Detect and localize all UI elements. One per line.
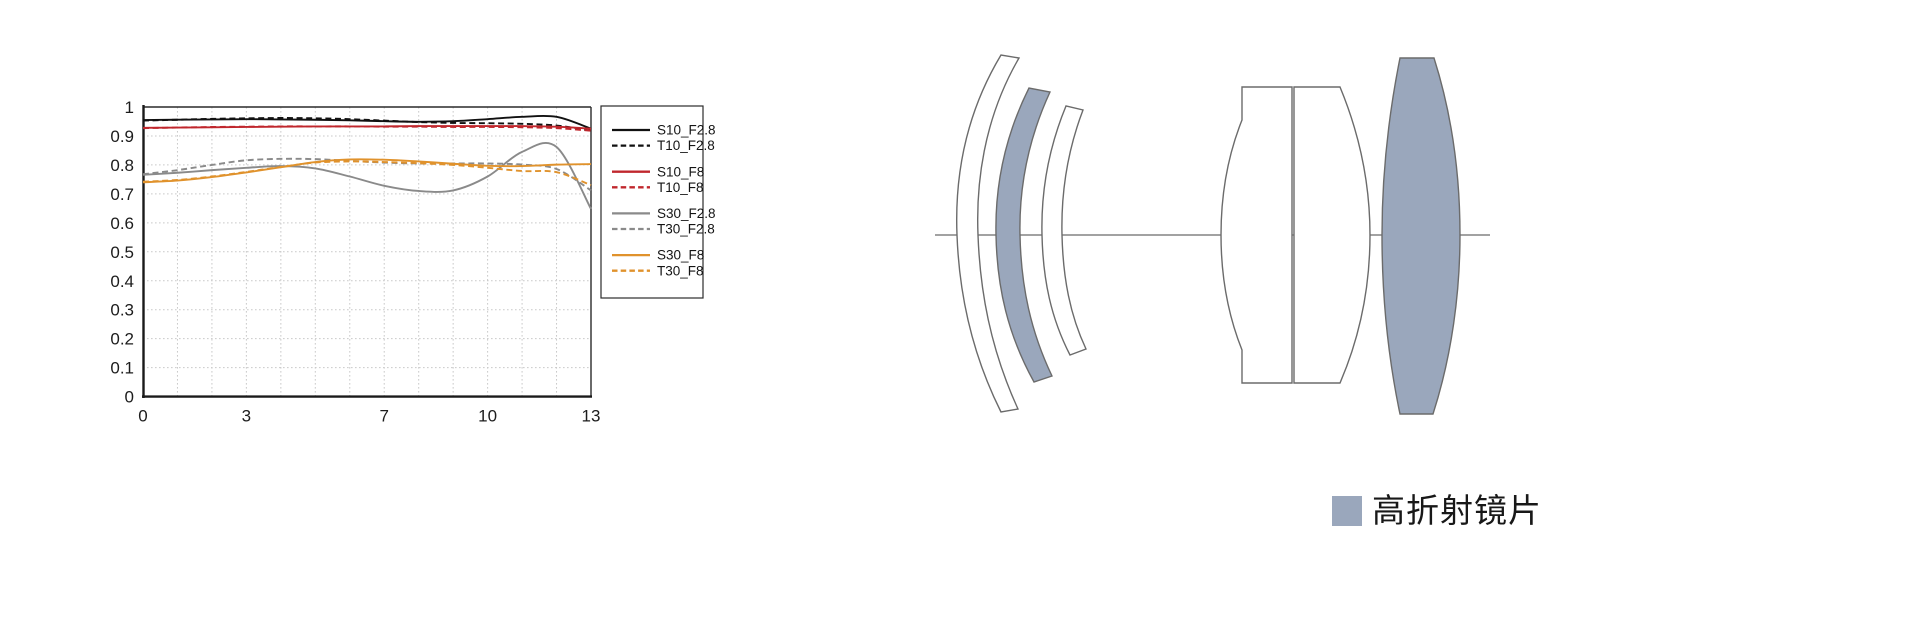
y-tick-label: 0.6 (110, 214, 134, 233)
lens-element-6-high-index (1382, 58, 1460, 414)
legend-label-s30-f8: S30_F8 (657, 248, 704, 263)
high-index-swatch-icon (1332, 496, 1362, 526)
legend-label-t30-f2-8: T30_F2.8 (657, 222, 715, 237)
mtf-chart-svg: 00.10.20.30.40.50.60.70.80.91 0371013 S1… (0, 0, 900, 635)
y-tick-label: 0.5 (110, 243, 134, 262)
x-tick-label: 13 (582, 407, 601, 426)
x-tick-label: 0 (138, 407, 147, 426)
y-axis-tick-labels: 00.10.20.30.40.50.60.70.80.91 (110, 98, 134, 407)
mtf-chart-panel: 00.10.20.30.40.50.60.70.80.91 0371013 S1… (0, 0, 900, 635)
y-tick-label: 0.1 (110, 359, 134, 378)
high-index-caption-label: 高折射镜片 (1372, 494, 1542, 527)
lens-element-5 (1294, 87, 1370, 383)
y-tick-label: 0.4 (110, 272, 134, 291)
y-tick-label: 0.9 (110, 127, 134, 146)
y-tick-label: 0.8 (110, 156, 134, 175)
legend-label-s10-f2-8: S10_F2.8 (657, 123, 716, 138)
lens-diagram-panel: 高折射镜片 (900, 0, 1920, 635)
page-root: 00.10.20.30.40.50.60.70.80.91 0371013 S1… (0, 0, 1920, 635)
x-tick-label: 7 (379, 407, 388, 426)
legend-label-t10-f8: T10_F8 (657, 180, 704, 195)
lens-element-4 (1221, 87, 1292, 383)
legend-label-s10-f8: S10_F8 (657, 164, 704, 179)
legend-label-s30-f2-8: S30_F2.8 (657, 206, 716, 221)
lens-element-3 (1042, 106, 1086, 355)
y-tick-label: 0 (125, 388, 134, 407)
x-tick-label: 10 (478, 407, 497, 426)
lens-cross-section-svg (900, 0, 1920, 635)
lens-legend-caption: 高折射镜片 (1332, 494, 1542, 527)
legend-label-t30-f8: T30_F8 (657, 263, 704, 278)
x-tick-label: 3 (242, 407, 251, 426)
y-tick-label: 0.7 (110, 185, 134, 204)
y-tick-label: 0.2 (110, 330, 134, 349)
y-tick-label: 0.3 (110, 301, 134, 320)
legend-label-t10-f2-8: T10_F2.8 (657, 138, 715, 153)
y-tick-label: 1 (125, 98, 134, 117)
x-axis-tick-labels: 0371013 (138, 407, 600, 426)
